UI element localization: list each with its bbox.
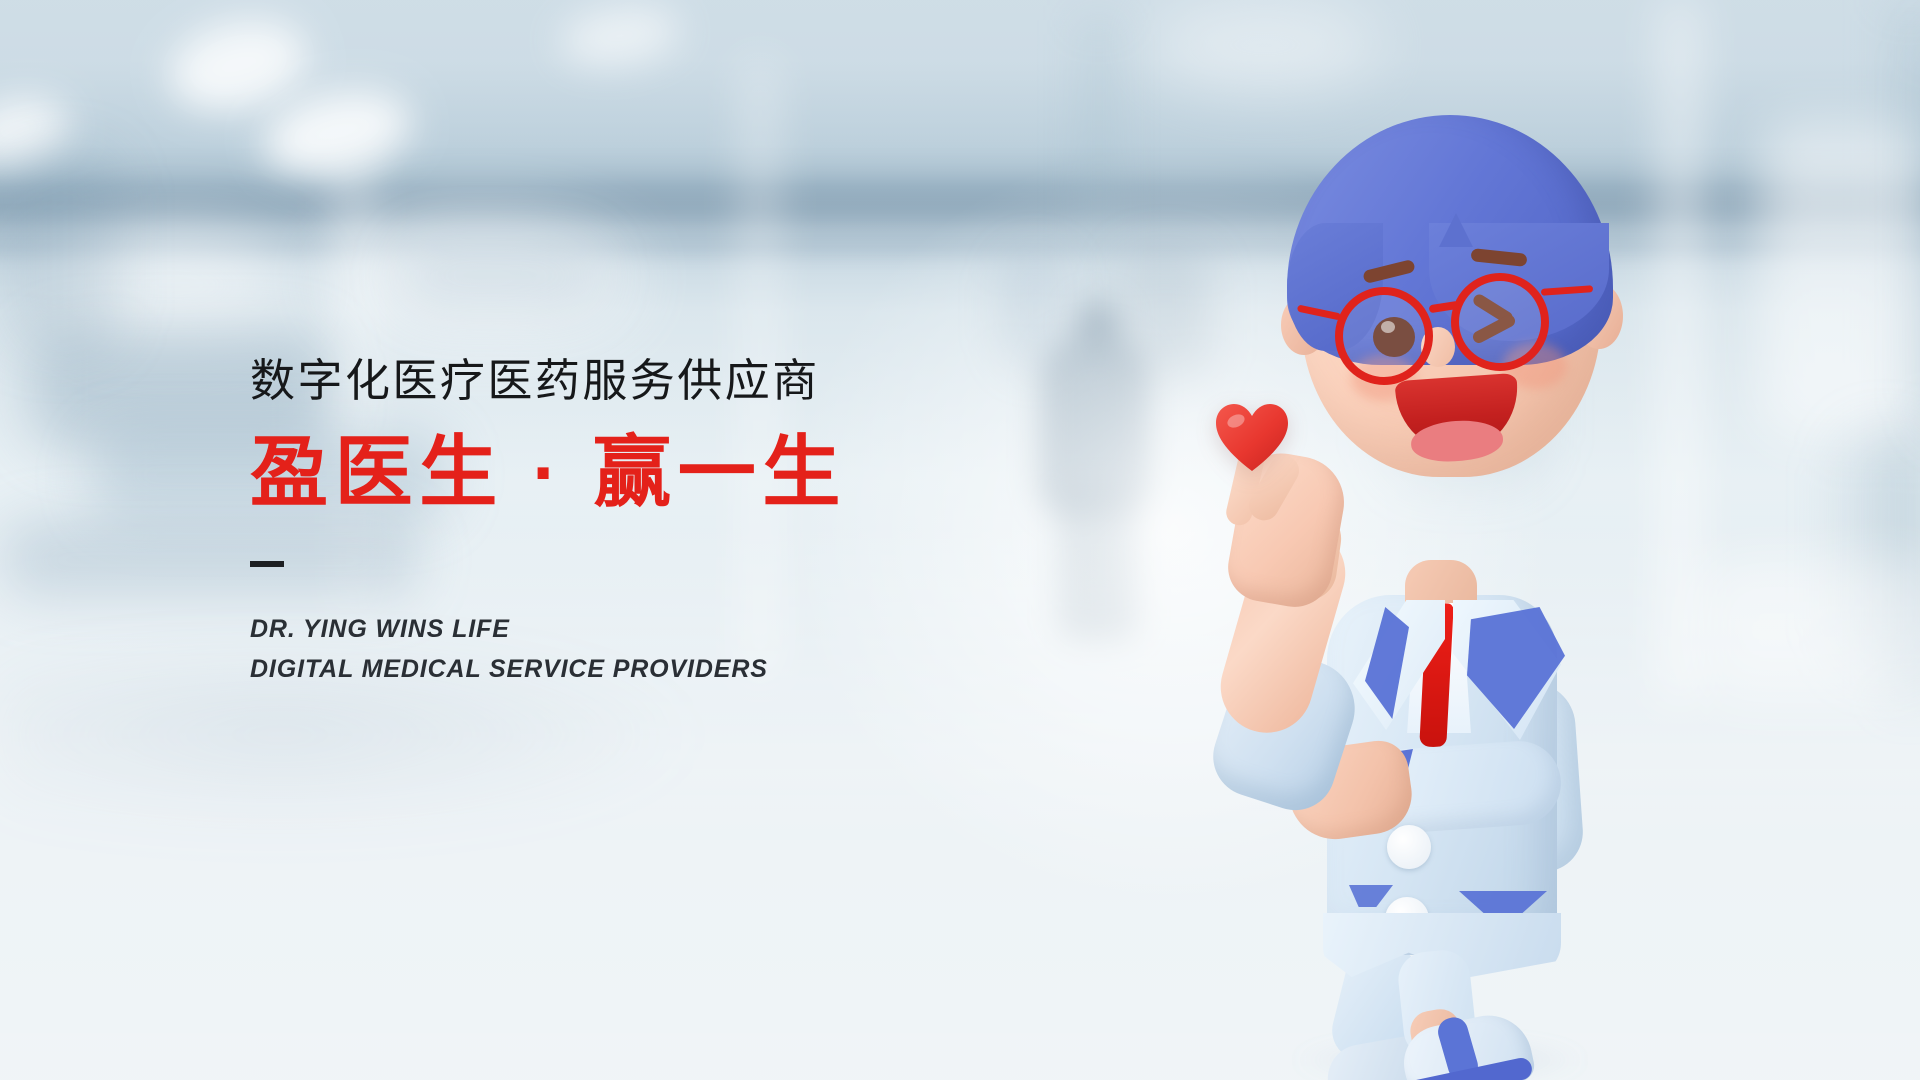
page-title: 盈医生 · 赢一生 bbox=[250, 429, 970, 516]
glasses-lens-left bbox=[1335, 287, 1433, 385]
divider-rule bbox=[250, 561, 284, 567]
kicker-text: 数字化医疗医药服务供应商 bbox=[250, 355, 970, 407]
subtitle-line-1: DR. YING WINS LIFE bbox=[250, 609, 970, 650]
hero-banner: 数字化医疗医药服务供应商 盈医生 · 赢一生 DR. YING WINS LIF… bbox=[0, 0, 1920, 1080]
subtitle-block: DR. YING WINS LIFE DIGITAL MEDICAL SERVI… bbox=[250, 609, 970, 690]
doctor-mascot-illustration bbox=[1215, 55, 1635, 1015]
heart-icon bbox=[1215, 403, 1289, 473]
coat-button-top bbox=[1387, 825, 1431, 869]
glasses-lens-right bbox=[1451, 273, 1549, 371]
hero-copy-block: 数字化医疗医药服务供应商 盈医生 · 赢一生 DR. YING WINS LIF… bbox=[250, 355, 970, 690]
subtitle-line-2: DIGITAL MEDICAL SERVICE PROVIDERS bbox=[250, 649, 970, 690]
